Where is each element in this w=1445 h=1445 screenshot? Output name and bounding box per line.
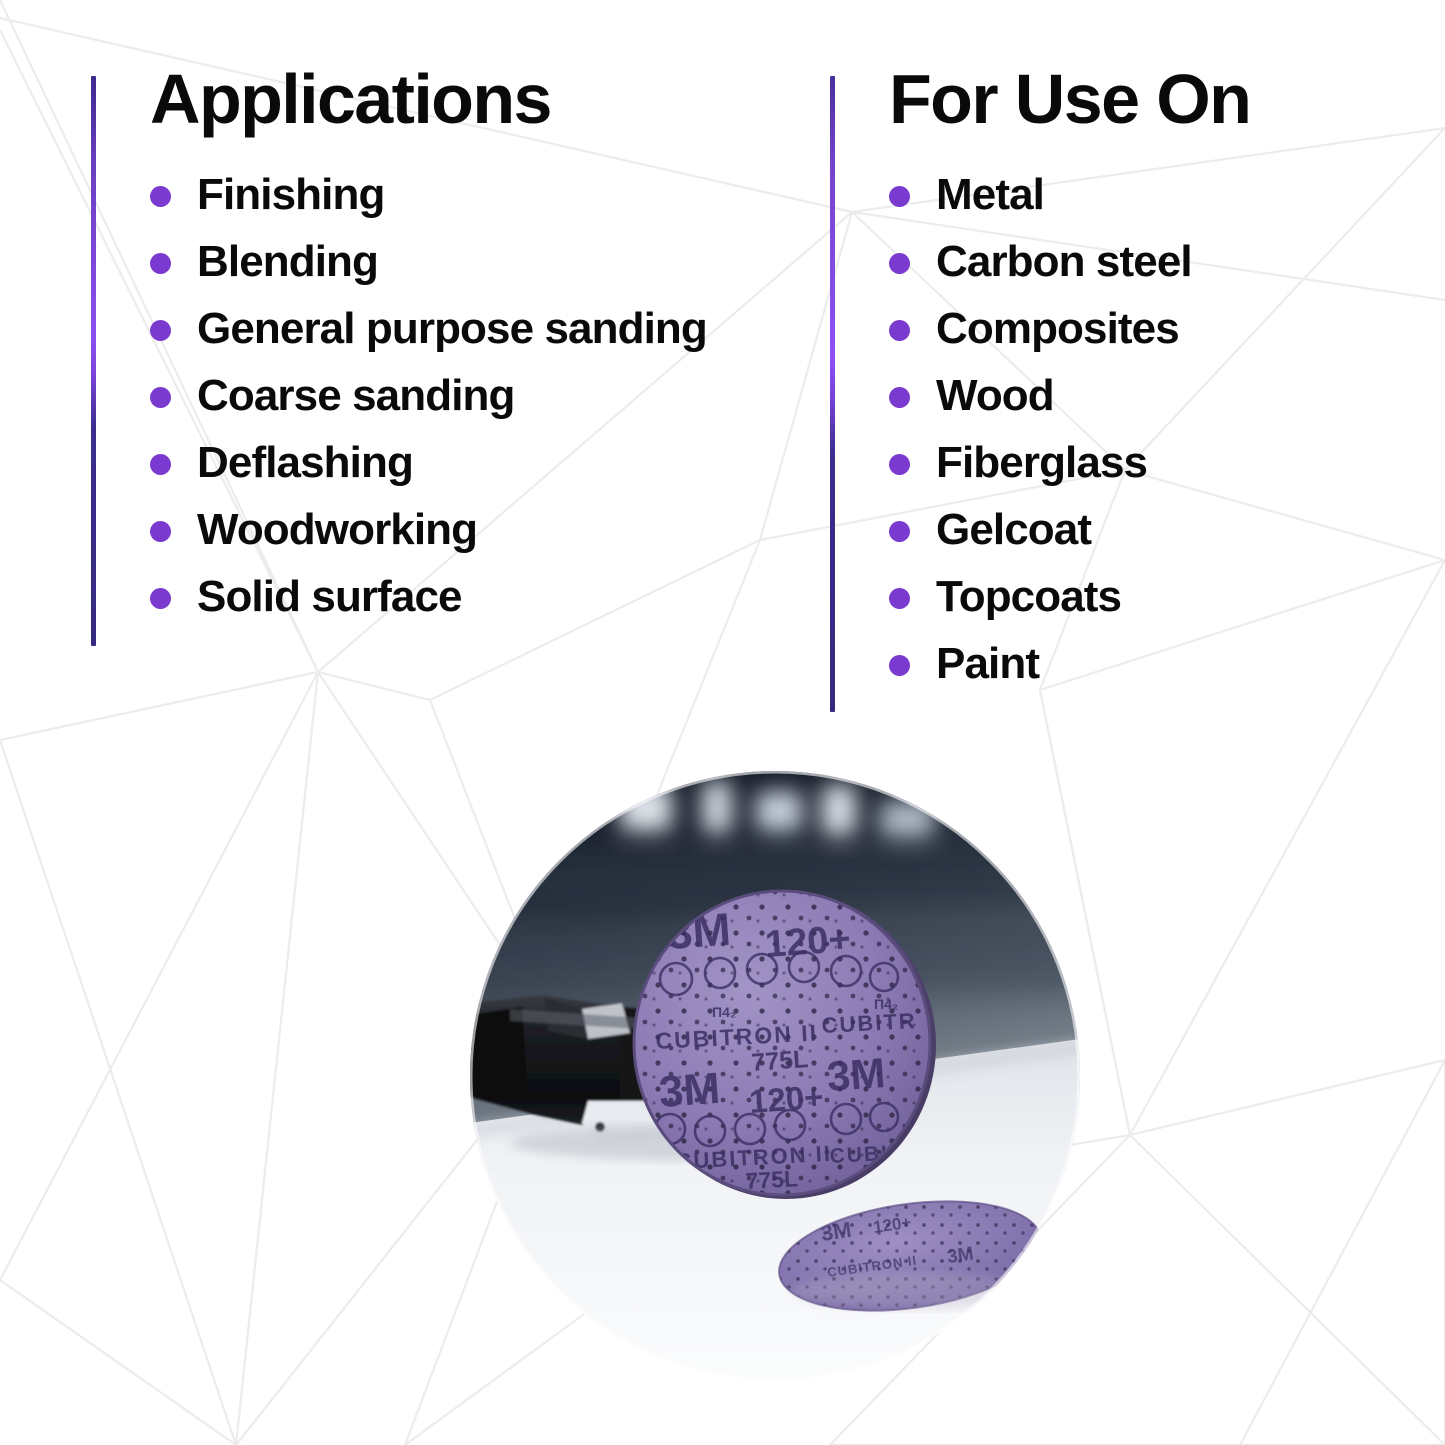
list-item: Topcoats: [889, 574, 1192, 620]
applications-bullet-list: Finishing Blending General purpose sandi…: [150, 172, 707, 641]
product-photo-illustration: 3M 120+ CUBITRON II CUBITR 3M 775L 120+ …: [470, 771, 1080, 1381]
list-item: Composites: [889, 306, 1192, 352]
list-item: Solid surface: [150, 574, 707, 620]
list-item: Wood: [889, 373, 1192, 419]
feature-columns: Applications Finishing Blending General …: [0, 0, 1445, 740]
svg-text:3M: 3M: [946, 1243, 975, 1267]
applications-accent-rule: [91, 76, 96, 646]
svg-text:Π4₂: Π4₂: [874, 996, 898, 1012]
product-photo: 3M 120+ CUBITRON II CUBITR 3M 775L 120+ …: [470, 771, 1080, 1381]
list-item: General purpose sanding: [150, 306, 707, 352]
svg-text:3M: 3M: [657, 1064, 721, 1117]
list-item: Blending: [150, 239, 707, 285]
list-item: Deflashing: [150, 440, 707, 486]
svg-text:CUBITR: CUBITR: [821, 1008, 917, 1038]
applications-column: Applications Finishing Blending General …: [91, 0, 791, 740]
for-use-on-heading: For Use On: [889, 64, 1250, 134]
svg-text:3M: 3M: [825, 1049, 886, 1100]
list-item: Carbon steel: [889, 239, 1192, 285]
for-use-on-accent-rule: [830, 76, 835, 712]
list-item: Coarse sanding: [150, 373, 707, 419]
svg-text:120+: 120+: [748, 1078, 825, 1120]
list-item: Finishing: [150, 172, 707, 218]
svg-text:775L: 775L: [750, 1045, 809, 1077]
list-item: Fiberglass: [889, 440, 1192, 486]
list-item: Woodworking: [150, 507, 707, 553]
list-item: Metal: [889, 172, 1192, 218]
list-item: Paint: [889, 641, 1192, 687]
applications-heading: Applications: [150, 64, 551, 134]
list-item: Gelcoat: [889, 507, 1192, 553]
for-use-on-column: For Use On Metal Carbon steel Composites…: [830, 0, 1430, 740]
for-use-on-bullet-list: Metal Carbon steel Composites Wood Fiber…: [889, 172, 1192, 708]
svg-text:Π4₂: Π4₂: [712, 1004, 736, 1020]
